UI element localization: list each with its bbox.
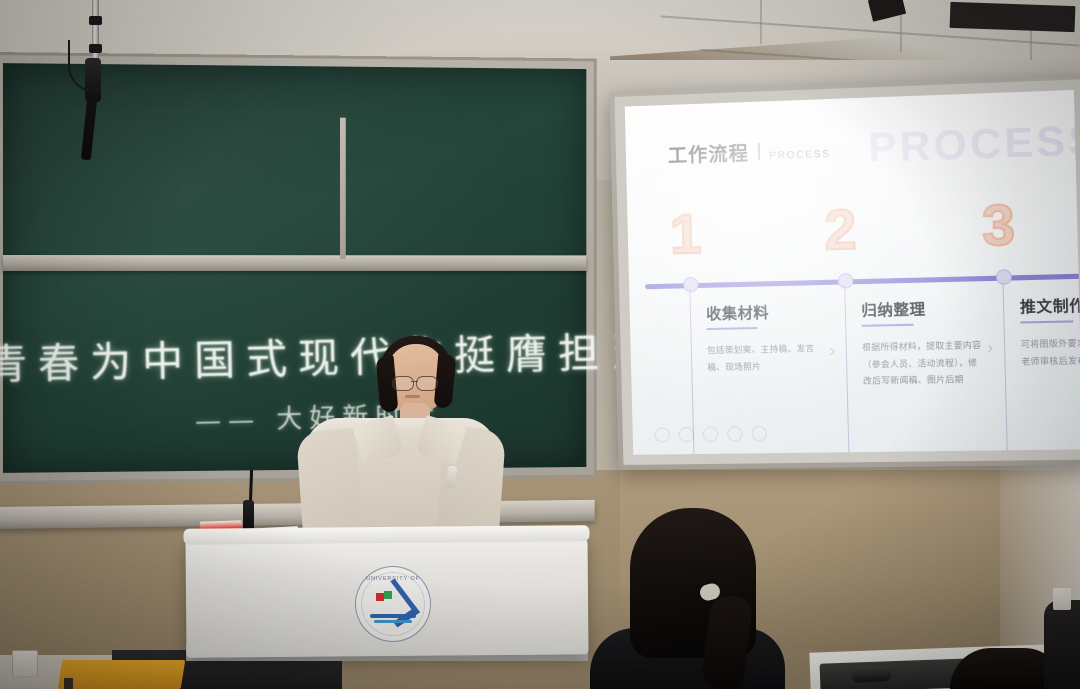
timeline-node-1 <box>683 277 698 292</box>
wall-switch-plate[interactable] <box>1053 588 1071 610</box>
mic-band <box>89 16 102 25</box>
card-heading: 归纳整理 <box>861 297 984 321</box>
process-card-2[interactable]: 归纳整理 根据所得材料，提取主要内容（参会人员、活动流程），修改后写新闻稿、图片… <box>861 297 986 391</box>
card-underline <box>706 327 757 330</box>
crest-bar <box>370 614 416 618</box>
glasses-bridge <box>411 381 418 382</box>
lectern-top-edge <box>183 525 589 545</box>
presentation-slide[interactable]: PROCESS 工作流程 PROCESS 1 收集材料 <box>625 90 1080 455</box>
slide-title-en: PROCESS <box>769 149 831 162</box>
side-desk <box>58 660 186 689</box>
node-connector <box>844 285 849 454</box>
chevron-right-icon: › <box>829 341 835 361</box>
chevron-right-icon: › <box>987 337 993 358</box>
card-body: 根据所得材料，提取主要内容（参会人员、活动流程），修改后写新闻稿、图片后期 <box>862 338 986 391</box>
side-desk-leg <box>64 678 73 689</box>
process-timeline <box>645 274 1080 290</box>
card-body: 可将图版外要求修改，经学院老师审核后发布 <box>1021 334 1080 371</box>
presenter-mouth <box>405 395 420 398</box>
slide-header: 工作流程 PROCESS <box>668 136 831 169</box>
decorative-circle-icon <box>655 427 670 442</box>
crest-square-green <box>384 591 392 599</box>
blackboard-main-text: 青春为中国式现代化挺膺担当 <box>0 319 587 391</box>
blackboard-divider <box>3 255 586 271</box>
step-number-2: 2 <box>823 196 857 263</box>
timeline-node-2 <box>838 273 854 289</box>
decorative-circle-icon <box>679 427 694 442</box>
card-underline <box>1020 320 1073 323</box>
computer-mouse-icon[interactable] <box>852 666 892 683</box>
glasses-icon <box>392 376 414 391</box>
title-separator <box>758 143 760 160</box>
crest-square-red <box>376 593 384 601</box>
projection-screen[interactable]: PROCESS 工作流程 PROCESS 1 收集材料 <box>609 74 1080 470</box>
slide-watermark: PROCESS <box>868 116 1080 172</box>
glasses-icon <box>416 376 438 391</box>
student-edge-right <box>1044 600 1080 689</box>
card-body: 包括策划案、主持稿、发言稿、现场照片 <box>707 341 828 377</box>
process-card-3[interactable]: 推文制作 可将图版外要求修改，经学院老师审核后发布 <box>1020 293 1080 371</box>
decorative-circle-icon <box>751 426 767 441</box>
card-heading: 推文制作 <box>1020 293 1080 317</box>
slide-footer-icons <box>655 426 768 443</box>
classroom-scene: 青春为中国式现代化挺膺担当 —— 大好新时代 PROCESS 工作流程 PROC… <box>0 0 1080 689</box>
university-crest-icon: UNIVERSITY OF <box>355 566 431 642</box>
card-underline <box>862 324 914 327</box>
process-card-1[interactable]: 收集材料 包括策划案、主持稿、发言稿、现场照片 <box>706 300 828 376</box>
blackboard-panel-edge <box>340 118 346 259</box>
decorative-circle-icon <box>727 426 743 441</box>
slide-title-cn: 工作流程 <box>668 138 749 168</box>
timeline-node-3 <box>996 269 1012 285</box>
screen-bezel: PROCESS 工作流程 PROCESS 1 收集材料 <box>615 79 1080 465</box>
step-number-1: 1 <box>669 200 702 266</box>
decorative-circle-icon <box>703 427 719 442</box>
step-number-3: 3 <box>981 191 1015 259</box>
crest-bar-secondary <box>374 620 412 623</box>
power-outlet-icon <box>12 650 38 677</box>
card-heading: 收集材料 <box>706 300 827 324</box>
node-connector <box>1002 282 1007 455</box>
